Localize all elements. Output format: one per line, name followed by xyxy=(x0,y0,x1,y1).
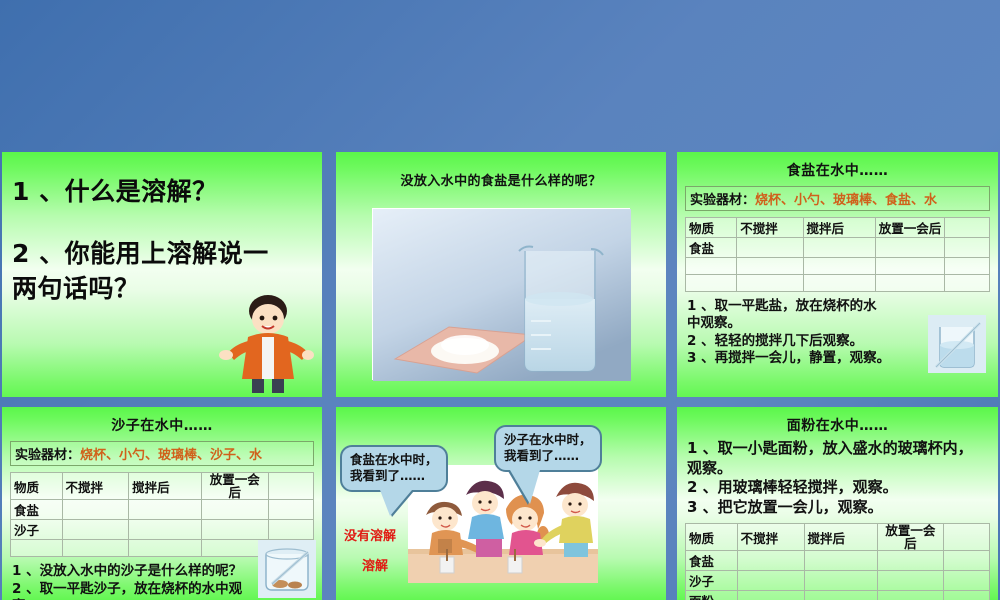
cell-no-stir[interactable] xyxy=(737,591,804,600)
cell-substance[interactable]: 沙子 xyxy=(686,571,738,591)
cell-substance[interactable]: 食盐 xyxy=(11,500,63,520)
cell-after-rest[interactable] xyxy=(875,275,945,292)
cell-blank[interactable] xyxy=(944,551,990,571)
cell-after-rest[interactable] xyxy=(877,551,944,571)
materials-value: 烧杯、小勺、玻璃棒、沙子、水 xyxy=(80,448,262,463)
question-1: 1 、什么是溶解？ xyxy=(12,174,316,210)
bubble-tail-icon xyxy=(380,490,412,516)
col-header-no-stir: 不搅拌 xyxy=(737,524,804,551)
step-line: 观察。 xyxy=(687,459,990,479)
cell-substance[interactable]: 食盐 xyxy=(686,238,737,258)
col-header-after-stir: 搅拌后 xyxy=(803,218,875,238)
col-header-after-stir: 搅拌后 xyxy=(129,473,202,500)
step-line: 3 、把它放置一会儿，观察。 xyxy=(687,498,990,518)
col-header-blank xyxy=(944,524,990,551)
col-header-blank xyxy=(268,473,313,500)
cell-after-stir[interactable] xyxy=(129,520,202,540)
label-dissolved: 溶解 xyxy=(362,555,388,574)
bubble-line: 我看到了…… xyxy=(504,448,592,464)
beaker-with-sand-photo xyxy=(258,540,316,598)
table-header-row: 物质 不搅拌 搅拌后 放置一会后 xyxy=(11,473,314,500)
experiment-table[interactable]: 物质 不搅拌 搅拌后 放置一会后 食盐 xyxy=(685,217,990,292)
bubble-tail-icon xyxy=(510,470,540,504)
experiment-table[interactable]: 物质 不搅拌 搅拌后 放置一会后 食盐 沙子 面粉 xyxy=(685,523,990,600)
cell-after-stir[interactable] xyxy=(804,591,877,600)
table-row[interactable]: 沙子 xyxy=(11,520,314,540)
cell-blank[interactable] xyxy=(945,258,990,275)
col-header-after-rest: 放置一会后 xyxy=(877,524,944,551)
cell-no-stir[interactable] xyxy=(737,238,803,258)
panel-salt-in-water[interactable]: 食盐在水中…… 实验器材：烧杯、小勺、玻璃棒、食盐、水 物质 不搅拌 搅拌后 放… xyxy=(677,152,998,397)
steps-list: 1 、取一小匙面粉，放入盛水的玻璃杯内， 观察。 2 、用玻璃棒轻轻搅拌，观察。… xyxy=(677,435,998,517)
cell-no-stir[interactable] xyxy=(737,275,803,292)
table-row[interactable] xyxy=(686,258,990,275)
cell-no-stir[interactable] xyxy=(62,500,129,520)
cell-blank[interactable] xyxy=(944,571,990,591)
col-header-blank xyxy=(945,218,990,238)
cell-after-rest[interactable] xyxy=(201,500,268,520)
cell-no-stir[interactable] xyxy=(737,258,803,275)
cell-substance[interactable] xyxy=(686,275,737,292)
cell-after-rest[interactable] xyxy=(877,591,944,600)
table-row[interactable]: 食盐 xyxy=(11,500,314,520)
col-header-no-stir: 不搅拌 xyxy=(737,218,803,238)
cell-after-rest[interactable] xyxy=(877,571,944,591)
col-header-after-rest: 放置一会后 xyxy=(201,473,268,500)
panel-flour-in-water[interactable]: 面粉在水中…… 1 、取一小匙面粉，放入盛水的玻璃杯内， 观察。 2 、用玻璃棒… xyxy=(677,407,998,600)
table-row[interactable]: 食盐 xyxy=(686,551,990,571)
boy-pointing-clipart xyxy=(218,289,314,393)
col-header-after-rest: 放置一会后 xyxy=(875,218,945,238)
panel-sand-in-water[interactable]: 沙子在水中…… 实验器材：烧杯、小勺、玻璃棒、沙子、水 物质 不搅拌 搅拌后 放… xyxy=(2,407,322,600)
photo-contents xyxy=(373,209,631,381)
materials-box: 实验器材：烧杯、小勺、玻璃棒、食盐、水 xyxy=(685,186,990,211)
table-row[interactable] xyxy=(686,275,990,292)
step-line: 2 、用玻璃棒轻轻搅拌，观察。 xyxy=(687,478,990,498)
bubble-line: 沙子在水中时， xyxy=(504,432,592,448)
cell-after-stir[interactable] xyxy=(803,258,875,275)
materials-label: 实验器材： xyxy=(690,193,755,208)
cell-after-rest[interactable] xyxy=(201,520,268,540)
cell-no-stir[interactable] xyxy=(62,520,129,540)
cell-substance[interactable] xyxy=(686,258,737,275)
step-line: 1 、取一平匙盐，放在烧杯的水 xyxy=(687,298,990,315)
salt-pile-and-beaker-photo xyxy=(372,208,630,380)
step-line: 1 、取一小匙面粉，放入盛水的玻璃杯内， xyxy=(687,439,990,459)
cell-blank[interactable] xyxy=(944,591,990,600)
table-row[interactable]: 沙子 xyxy=(686,571,990,591)
cell-after-stir[interactable] xyxy=(129,540,202,557)
bubble-line: 我看到了…… xyxy=(350,468,438,484)
slide-thumbnail-grid: 1 、什么是溶解？ 2 、你能用上溶解说一 两句话吗？ 没放入水中的食盐是什么样… xyxy=(0,152,1000,600)
panel-title: 食盐在水中…… xyxy=(677,152,998,180)
cell-after-stir[interactable] xyxy=(803,275,875,292)
cell-substance[interactable]: 面粉 xyxy=(686,591,738,600)
panel-questions[interactable]: 1 、什么是溶解？ 2 、你能用上溶解说一 两句话吗？ xyxy=(2,152,322,397)
question-list: 1 、什么是溶解？ 2 、你能用上溶解说一 两句话吗？ xyxy=(2,152,322,307)
beaker-with-glass-rod-photo xyxy=(928,315,986,373)
cell-substance[interactable]: 沙子 xyxy=(11,520,63,540)
materials-value: 烧杯、小勺、玻璃棒、食盐、水 xyxy=(755,193,937,208)
table-row[interactable]: 食盐 xyxy=(686,238,990,258)
bubble-line: 食盐在水中时， xyxy=(350,452,438,468)
cell-after-stir[interactable] xyxy=(803,238,875,258)
cell-blank[interactable] xyxy=(945,238,990,258)
col-header-substance: 物质 xyxy=(686,524,738,551)
cell-after-stir[interactable] xyxy=(804,551,877,571)
spacer xyxy=(12,210,316,236)
panel-salt-photo[interactable]: 没放入水中的食盐是什么样的呢？ xyxy=(336,152,666,397)
cell-no-stir[interactable] xyxy=(737,571,804,591)
col-header-substance: 物质 xyxy=(686,218,737,238)
col-header-no-stir: 不搅拌 xyxy=(62,473,129,500)
cell-no-stir[interactable] xyxy=(737,551,804,571)
cell-after-stir[interactable] xyxy=(804,571,877,591)
question-2-line-1: 2 、你能用上溶解说一 xyxy=(12,236,316,272)
cell-substance[interactable] xyxy=(11,540,63,557)
materials-box: 实验器材：烧杯、小勺、玻璃棒、沙子、水 xyxy=(10,441,314,466)
panel-title: 沙子在水中…… xyxy=(2,407,322,435)
cell-after-stir[interactable] xyxy=(129,500,202,520)
col-header-substance: 物质 xyxy=(11,473,63,500)
cell-after-rest[interactable] xyxy=(875,238,945,258)
col-header-after-stir: 搅拌后 xyxy=(804,524,877,551)
panel-kids-discussion[interactable]: 食盐在水中时， 我看到了…… 沙子在水中时， 我看到了…… 没有溶解 溶解 xyxy=(336,407,666,600)
cell-blank[interactable] xyxy=(268,520,313,540)
cell-after-rest[interactable] xyxy=(875,258,945,275)
materials-label: 实验器材： xyxy=(15,448,80,463)
table-header-row: 物质 不搅拌 搅拌后 放置一会后 xyxy=(686,218,990,238)
speech-bubble-sand: 沙子在水中时， 我看到了…… xyxy=(494,425,602,472)
cell-blank[interactable] xyxy=(945,275,990,292)
cell-blank[interactable] xyxy=(268,500,313,520)
speech-bubble-salt: 食盐在水中时， 我看到了…… xyxy=(340,445,448,492)
label-not-dissolved: 没有溶解 xyxy=(344,525,396,544)
table-row[interactable]: 面粉 xyxy=(686,591,990,600)
cell-no-stir[interactable] xyxy=(62,540,129,557)
cell-substance[interactable]: 食盐 xyxy=(686,551,738,571)
panel-title: 面粉在水中…… xyxy=(677,407,998,435)
panel-title: 没放入水中的食盐是什么样的呢？ xyxy=(336,152,666,189)
table-header-row: 物质 不搅拌 搅拌后 放置一会后 xyxy=(686,524,990,551)
